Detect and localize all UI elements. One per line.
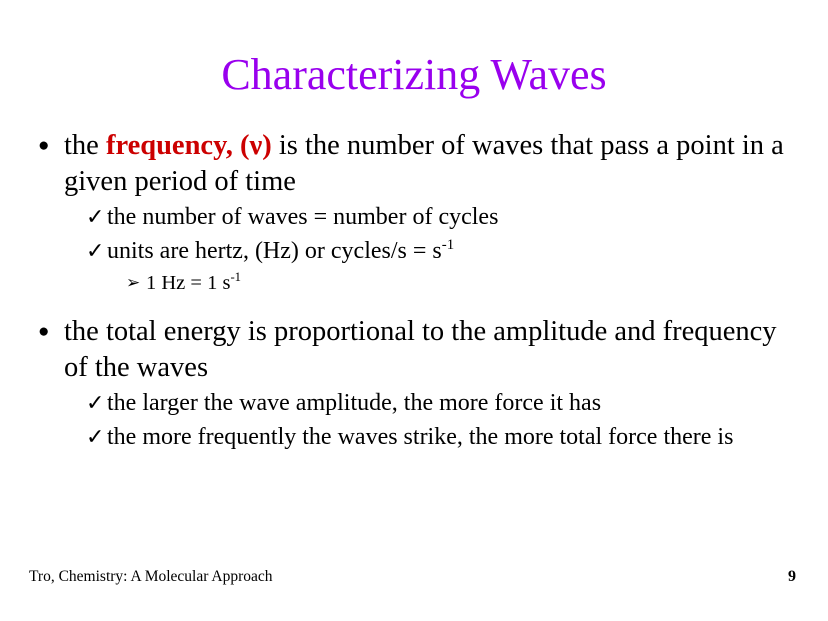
bullet-level1-frequency: ● the frequency, (ν) is the number of wa… [0, 128, 828, 200]
footer-page-number: 9 [766, 566, 796, 588]
round-bullet-icon: ● [38, 314, 49, 350]
bullet-text-total-energy: the total energy is proportional to the … [64, 316, 777, 383]
bullet-text-frequency-pre: the [64, 130, 106, 161]
slide-footer: Tro, Chemistry: A Molecular Approach 9 [0, 566, 828, 594]
page-title: Characterizing Waves [0, 52, 828, 98]
checkmark-bullet-icon: ✓ [86, 234, 104, 268]
bullet-level2-more-frequently: ✓ the more frequently the waves strike, … [0, 420, 828, 454]
round-bullet-icon: ● [38, 128, 49, 164]
footer-source-text: Tro, Chemistry: A Molecular Approach [29, 566, 273, 588]
bullet-level1-total-energy: ● the total energy is proportional to th… [0, 314, 828, 386]
slide-body: ● the frequency, (ν) is the number of wa… [0, 128, 828, 454]
bullet-level2-number-of-waves: ✓ the number of waves = number of cycles [0, 200, 828, 234]
checkmark-bullet-icon: ✓ [86, 386, 104, 420]
arrowhead-bullet-icon: ➢ [126, 268, 140, 298]
bullet-text-units-hertz-main: units are hertz, (Hz) or cycles/s = s [107, 238, 442, 264]
bullet-level2-units-hertz: ✓ units are hertz, (Hz) or cycles/s = s-… [0, 234, 828, 268]
bullet-text-frequency: the frequency, (ν) is the number of wave… [64, 130, 784, 197]
bullet-text-hz-equals-main: 1 Hz = 1 s [146, 272, 230, 294]
bullet-text-number-of-waves: the number of waves = number of cycles [107, 204, 498, 230]
superscript-minus-one: -1 [442, 237, 454, 253]
checkmark-bullet-icon: ✓ [86, 200, 104, 234]
slide: Characterizing Waves ● the frequency, (ν… [0, 0, 828, 621]
bullet-level3-hz-equals: ➢ 1 Hz = 1 s-1 [0, 268, 828, 298]
bullet-text-larger-amplitude: the larger the wave amplitude, the more … [107, 390, 601, 416]
checkmark-bullet-icon: ✓ [86, 420, 104, 454]
bullet-level2-larger-amplitude: ✓ the larger the wave amplitude, the mor… [0, 386, 828, 420]
superscript-minus-one: -1 [230, 270, 241, 284]
bullet-text-units-hertz: units are hertz, (Hz) or cycles/s = s-1 [107, 238, 454, 264]
bullet-text-more-frequently: the more frequently the waves strike, th… [107, 424, 733, 450]
body-spacer [0, 298, 828, 314]
highlight-frequency-nu: frequency, (ν) [106, 130, 272, 161]
bullet-text-hz-equals: 1 Hz = 1 s-1 [146, 272, 241, 294]
